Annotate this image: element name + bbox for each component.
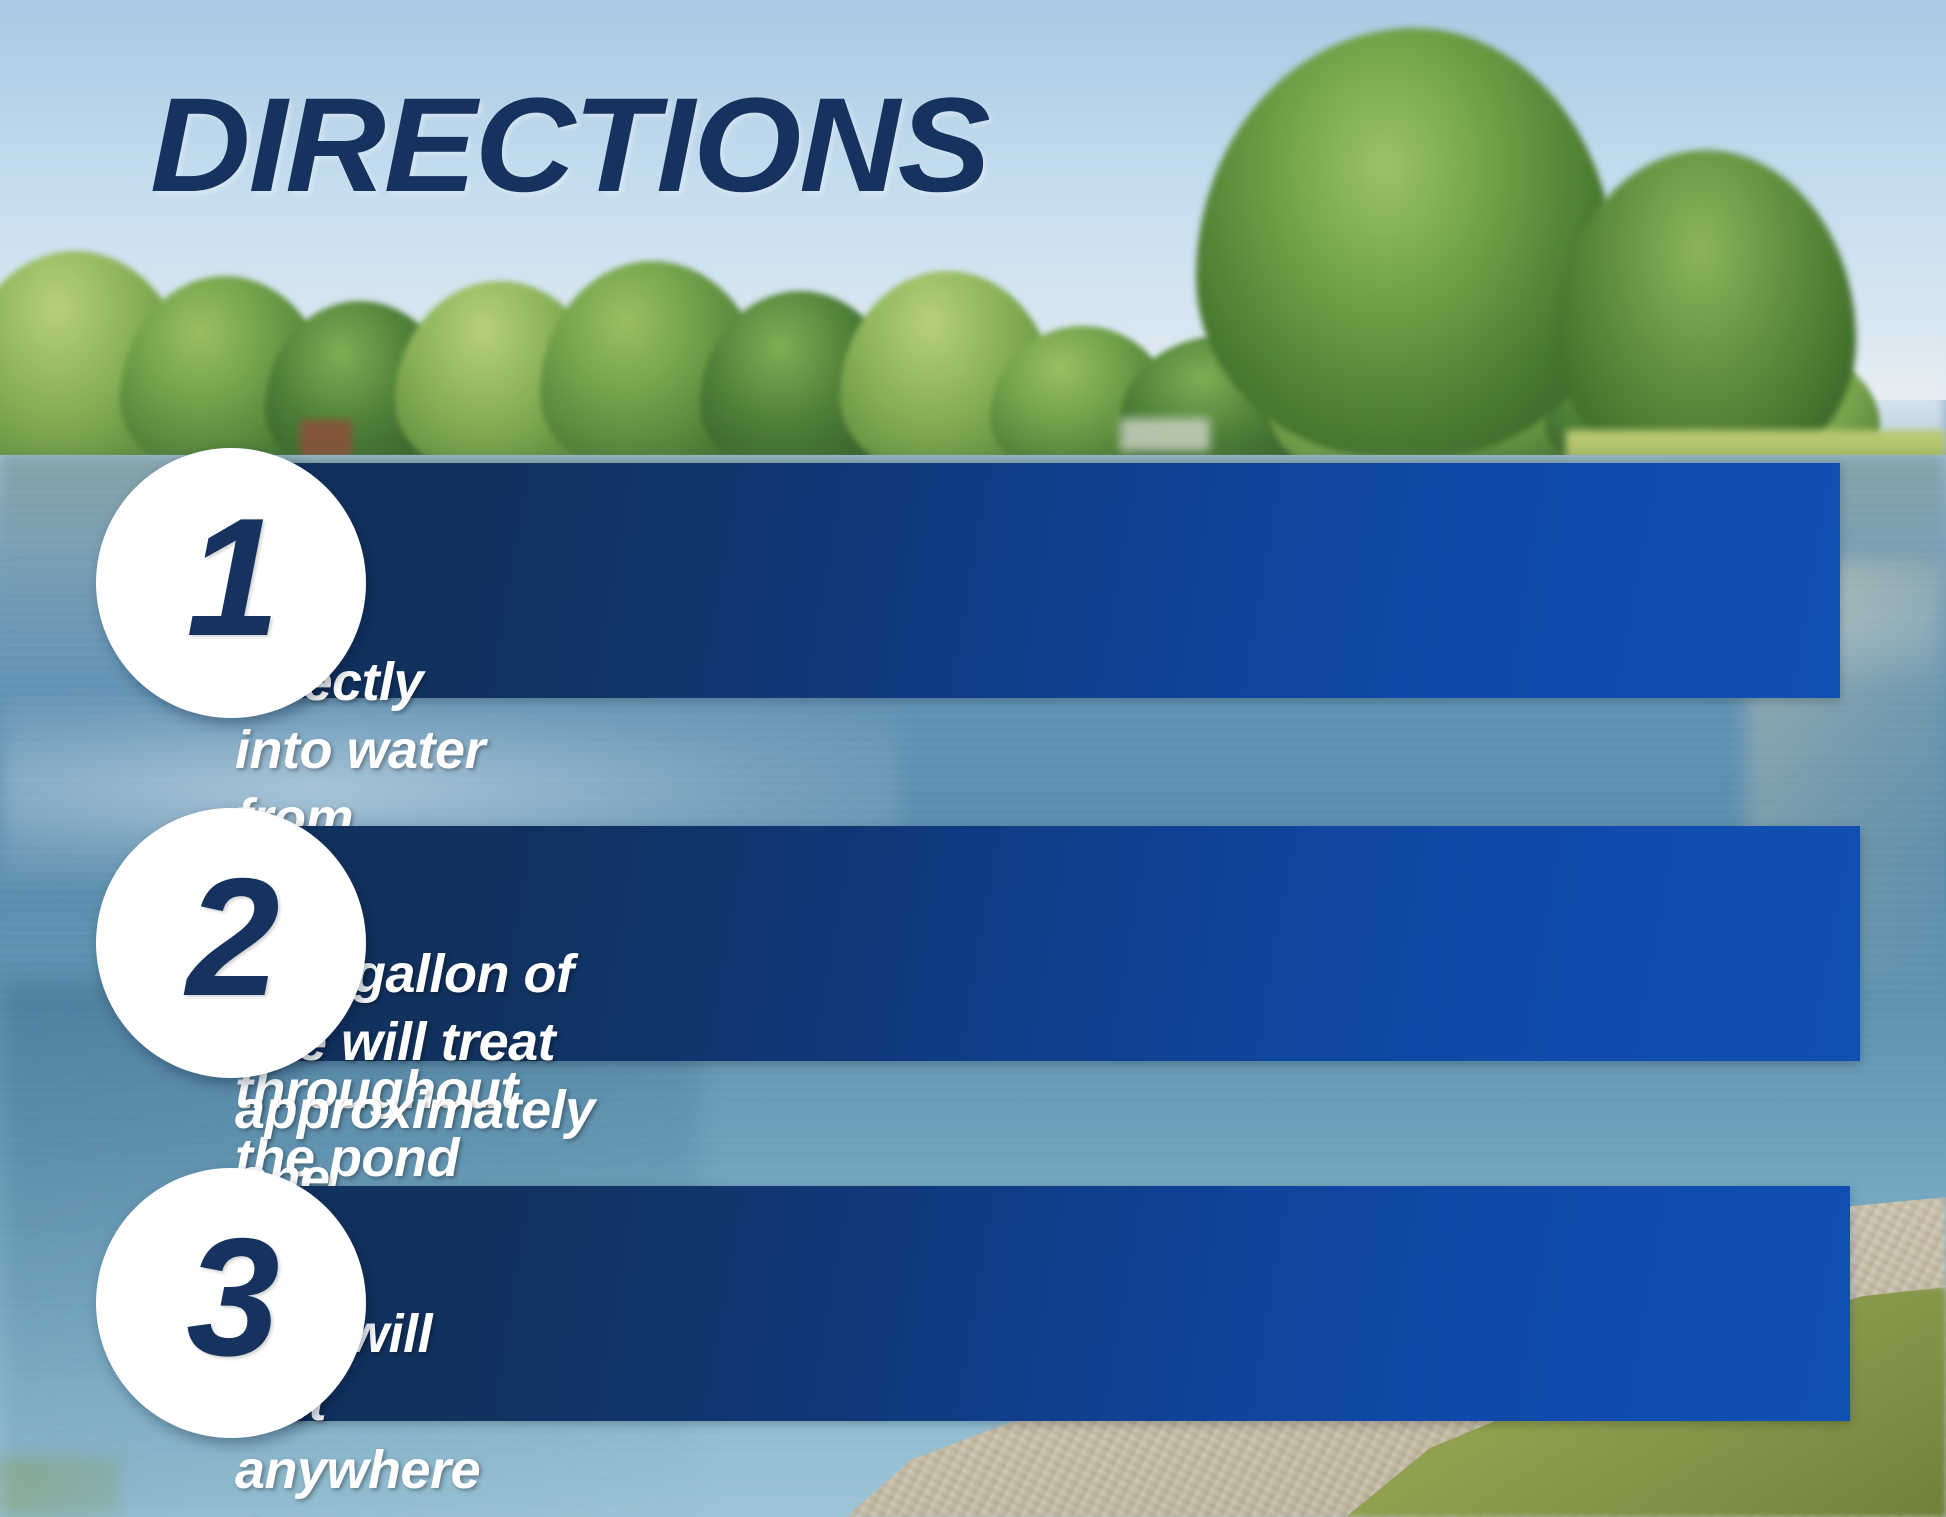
distant-building-secondary <box>1120 418 1210 452</box>
step-3-number: 3 <box>186 1213 275 1381</box>
grass-bottom-left <box>0 1457 120 1517</box>
step-3-number-badge: 3 <box>96 1168 366 1438</box>
step-2-number-badge: 2 <box>96 808 366 1078</box>
distant-building <box>300 420 352 460</box>
step-2-number: 2 <box>186 853 275 1021</box>
page-title: DIRECTIONS <box>150 78 989 215</box>
step-1-number: 1 <box>186 493 275 661</box>
step-1-number-badge: 1 <box>96 448 366 718</box>
